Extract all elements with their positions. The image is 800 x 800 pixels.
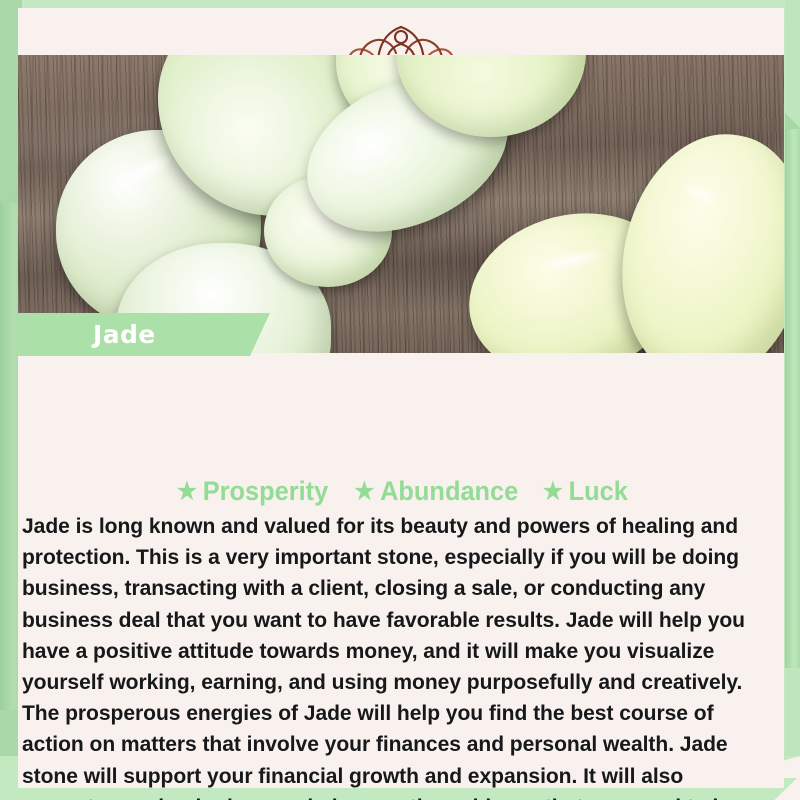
benefit-item-luck: ★ Luck — [542, 476, 627, 507]
accent-bar-right — [785, 128, 800, 668]
star-icon: ★ — [542, 480, 562, 504]
stone-photo — [18, 55, 784, 353]
star-icon: ★ — [177, 480, 197, 504]
infographic-canvas: BUDDHA STONES Stone Features & Benefits — [0, 0, 800, 800]
star-icon: ★ — [354, 480, 374, 504]
stone-name-badge: Jade — [18, 313, 250, 356]
stone-name: Jade — [93, 320, 156, 349]
content-panel: BUDDHA STONES Stone Features & Benefits — [18, 8, 784, 788]
benefits-row: ★ Prosperity ★ Abundance ★ Luck — [18, 476, 784, 507]
benefit-item-abundance: ★ Abundance — [354, 476, 518, 507]
stone-description: Jade is long known and valued for its be… — [22, 510, 769, 800]
benefit-label: Abundance — [380, 476, 518, 507]
accent-bar-right-notch — [785, 112, 800, 129]
benefit-item-prosperity: ★ Prosperity — [177, 476, 328, 507]
benefit-label: Luck — [568, 476, 627, 507]
logo-head — [395, 31, 407, 43]
benefit-label: Prosperity — [203, 476, 329, 507]
